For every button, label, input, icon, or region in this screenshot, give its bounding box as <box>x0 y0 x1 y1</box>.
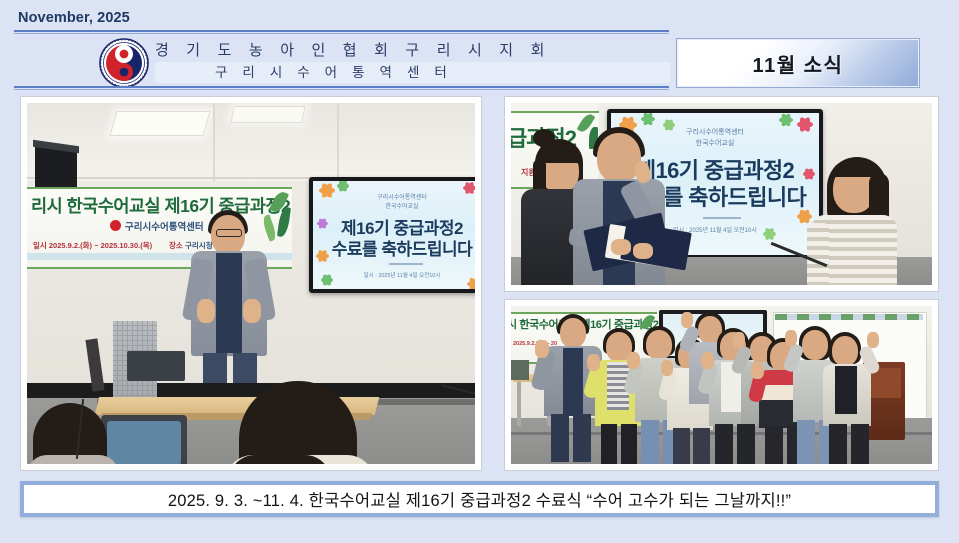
lecture-banner-title: 리시 한국수어교실 제16기 중급과정2 <box>31 193 290 218</box>
lecture-slide-head2: 한국수어교실 <box>313 201 475 210</box>
lecture-slide-head1: 구리시수어통역센터 <box>313 192 475 201</box>
group-photo-image: 시 한국수어교실 제16기 중급과정2 2025.9.2.(화) ~ 20 <box>511 306 932 464</box>
korea-deaf-association-emblem-icon <box>99 38 149 88</box>
lecture-banner-place: 구리시청 <box>185 240 213 251</box>
month-label: November, 2025 <box>18 10 130 26</box>
group-photo: 시 한국수어교실 제16기 중급과정2 2025.9.2.(화) ~ 20 <box>504 299 939 471</box>
organization-title: 경기도농아인협회구리시지회 구리시수어통역센터 <box>155 40 670 83</box>
newsletter-page: November, 2025 경기도농아인협회구리시지회 구리시수어통역센터 1… <box>0 0 959 543</box>
page-header: November, 2025 경기도농아인협회구리시지회 구리시수어통역센터 1… <box>0 0 959 92</box>
header-rule-bottom <box>14 86 669 90</box>
photo-caption: 2025. 9. 3. ~11. 4. 한국수어교실 제16기 중급과정2 수료… <box>20 481 939 517</box>
month-news-badge: 11월 소식 <box>676 38 920 88</box>
organization-name-line1: 경기도농아인협회구리시지회 <box>155 40 670 62</box>
header-rule-top <box>14 30 669 34</box>
month-news-badge-label: 11월 소식 <box>753 49 844 78</box>
certificate-award-photo: 급과정2 지원 구리시수어 <box>504 96 939 292</box>
organization-name-line2: 구리시수어통역센터 <box>155 62 670 83</box>
lecture-slide-line2: 수료를 축하드립니다 <box>313 235 475 260</box>
lecture-banner-date: 일시 2025.9.2.(화) ~ 2025.10.30.(목) <box>33 240 152 251</box>
photo-caption-text: 2025. 9. 3. ~11. 4. 한국수어교실 제16기 중급과정2 수료… <box>168 487 791 511</box>
lecture-banner-place-label: 장소 <box>169 240 183 251</box>
lecture-photo-image: 리시 한국수어교실 제16기 중급과정2 구리시수어통역센터 일시 2025.9… <box>27 103 475 464</box>
lecture-banner-org: 구리시수어통역센터 <box>125 219 204 233</box>
award-slide-head1: 구리시수어통역센터 <box>611 127 819 137</box>
lecture-slide-foot: 일시 : 2025년 11월 4일 오전10시 <box>313 271 475 279</box>
lecture-photo: 리시 한국수어교실 제16기 중급과정2 구리시수어통역센터 일시 2025.9… <box>20 96 482 471</box>
lecture-slide-screen: 구리시수어통역센터 한국수어교실 제16기 중급과정2 수료를 축하드립니다 일… <box>313 181 475 289</box>
certificate-award-photo-image: 급과정2 지원 구리시수어 <box>511 103 932 285</box>
